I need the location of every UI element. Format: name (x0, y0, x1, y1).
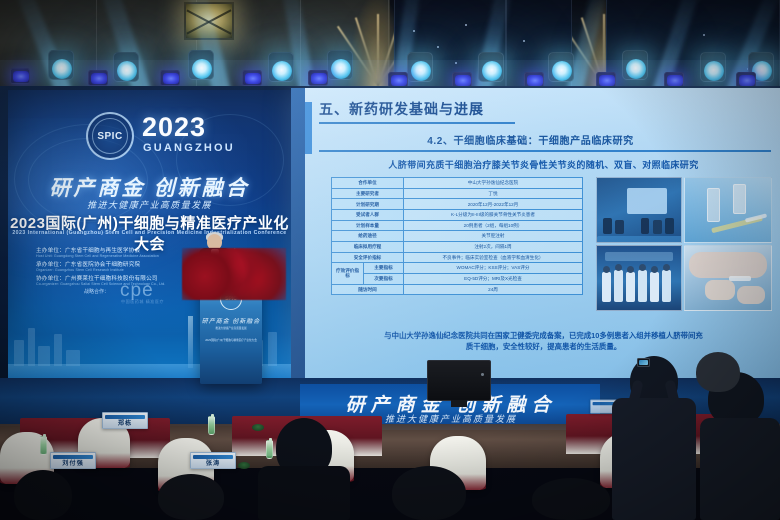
table-key: 随访时间 (332, 284, 404, 295)
spic-logo: SPIC (86, 112, 134, 160)
led-par-light (160, 70, 180, 86)
led-par-light (10, 68, 30, 84)
moving-head-light (268, 52, 294, 82)
table-value: 不良事件；临床实验室检查（血液学和血清生化） (404, 252, 583, 263)
led-par-light (242, 70, 262, 86)
audience-member (690, 352, 746, 398)
meeting-room-photo (596, 177, 682, 243)
table-key-merged: 疗效评价指标 (332, 263, 364, 284)
table-value: K-L分级为II-III级的膝关节骨性关节炎患者 (404, 209, 583, 220)
moving-head-light (478, 52, 504, 82)
sponsor-label: 战略合作： (84, 288, 109, 295)
podium-calligraphy: 研产商金 创新融合 (200, 316, 262, 325)
table-key: 计划样本量 (332, 220, 404, 231)
water-bottle (208, 416, 215, 435)
table-row: 主要研究者 丁悦 (332, 188, 583, 199)
ceiling-truss-area (0, 0, 780, 92)
banner-year: 2023 (142, 114, 206, 141)
banner-city: GUANGZHOU (143, 142, 235, 154)
flower-arrangement (182, 248, 286, 300)
confidence-monitor (427, 360, 491, 401)
table-value: 注射2次，间隔1周 (404, 241, 583, 252)
audience-member (520, 478, 640, 520)
table-key: 主要指标 (364, 263, 404, 274)
name-placard: 郑栋 (102, 412, 148, 429)
table-row: 随访时间 24周 (332, 284, 583, 295)
moving-head-light (407, 52, 433, 82)
injection-photo (684, 245, 772, 311)
table-key: 安全评价指标 (332, 252, 404, 263)
table-row: 合作单位 中山大学孙逸仙纪念医院 (332, 178, 583, 189)
table-value: 丁悦 (404, 188, 583, 199)
organizer-name-en: Host Unit: Guangdong Stem Cell and Regen… (36, 254, 159, 258)
podium-subline: 推进大健康产业高质量发展 (200, 326, 262, 330)
clinical-study-table: 合作单位 中山大学孙逸仙纪念医院 主要研究者 丁悦 计划研究期 2020年12月… (331, 177, 583, 295)
moving-head-light (188, 50, 214, 80)
wall-sconce-icon (184, 2, 234, 40)
moving-head-light (548, 52, 574, 82)
table-value: 24周 (404, 284, 583, 295)
table-row: 给药途径 关节腔注射 (332, 231, 583, 242)
banner-calligraphy-sub: 推进大健康产业高质量发展 (8, 198, 291, 211)
moving-head-light (113, 52, 139, 82)
conference-photo-scene: SPIC 2023 GUANGZHOU 研产商金 创新融合 推进大健康产业高质量… (0, 0, 780, 520)
placard-name: 张涛 (206, 458, 220, 469)
audience-member (150, 474, 260, 520)
table-key: 主要研究者 (332, 188, 404, 199)
smartphone[interactable] (637, 358, 650, 367)
moving-head-light (622, 50, 648, 80)
table-value: WOMAC评分；KSS评分；VAS评分 (404, 263, 583, 274)
ashtray (238, 462, 250, 469)
table-row: 次要指标 EQ-5D评分；MRI及X光检查 (332, 273, 583, 284)
moving-head-light (700, 52, 726, 82)
lab-team-photo (596, 245, 682, 311)
conference-title-en: 2023 International (Guangzhou) Stem Cell… (8, 230, 291, 236)
table-key: 合作单位 (332, 178, 404, 189)
table-value: EQ-5D评分；MRI及X光检查 (404, 273, 583, 284)
table-row: 受试者人群 K-L分级为II-III级的膝关节骨性关节炎患者 (332, 209, 583, 220)
table-key: 给药途径 (332, 231, 404, 242)
table-key: 受试者人群 (332, 209, 404, 220)
table-row: 临床拟用疗程 注射2次，间隔1周 (332, 241, 583, 252)
table-row: 安全评价指标 不良事件；临床实验室检查（血液学和血清生化） (332, 252, 583, 263)
moving-head-light (327, 50, 353, 80)
name-placard: 刘付强 (50, 452, 96, 469)
cpe-logo-sub: 中国医药城 精准医疗 (121, 299, 164, 305)
table-row: 计划研究期 2020年12月-2022年12月 (332, 199, 583, 210)
led-par-light (88, 70, 108, 86)
slide-sub-heading: 4.2、干细胞临床基础：干细胞产品临床研究 (291, 132, 770, 147)
organizer-name-en: Organizer: Guangzhou Stem Cell Research … (36, 268, 140, 272)
placard-name: 刘付强 (62, 458, 84, 469)
organizer-row-host: 主办单位：广东省干细胞与再生医学协会 Host Unit: Guangdong … (36, 246, 159, 258)
table-value: 中山大学孙逸仙纪念医院 (404, 178, 583, 189)
slide-footer-text: 与中山大学孙逸仙纪念医院共同在国家卫健委完成备案，已完成10多例患者入组并移植人… (325, 330, 762, 353)
table-key: 次要指标 (364, 273, 404, 284)
audience-member (382, 466, 502, 520)
audience-member (0, 470, 96, 520)
table-value: 关节腔注射 (404, 231, 583, 242)
organizer-row-organizer: 承办单位：广东省医院协会干细胞研究院 Organizer: Guangzhou … (36, 260, 140, 272)
table-value: 20例患者（2组，每组10例） (404, 220, 583, 231)
presentation-slide: 五、新药研发基础与进展 4.2、干细胞临床基础：干细胞产品临床研究 人脐带间充质… (291, 88, 780, 378)
water-bottle (40, 436, 47, 455)
podium-conference-line: 2023国际(广州)干细胞与精准医疗产业化大会 (200, 338, 262, 342)
placard-name: 郑栋 (118, 418, 132, 429)
moving-head-light (48, 50, 74, 80)
table-row: 疗效评价指标 主要指标 WOMAC评分；KSS评分；VAS评分 (332, 263, 583, 274)
slide-section-heading: 五、新药研发基础与进展 (319, 99, 484, 119)
vials-syringe-photo (684, 177, 772, 243)
name-placard: 张涛 (190, 452, 236, 469)
slide-study-title: 人脐带间充质干细胞治疗膝关节炎骨性关节炎的随机、双盲、对照临床研究 (317, 158, 770, 171)
table-key: 计划研究期 (332, 199, 404, 210)
table-row: 计划样本量 20例患者（2组，每组10例） (332, 220, 583, 231)
slide-footer-line1: 与中山大学孙逸仙纪念医院共同在国家卫健委完成备案，已完成10多例患者入组并移植人… (325, 330, 762, 341)
table-key: 临床拟用疗程 (332, 241, 404, 252)
table-value: 2020年12月-2022年12月 (404, 199, 583, 210)
audience-member (258, 418, 350, 520)
led-par-light (308, 70, 328, 86)
